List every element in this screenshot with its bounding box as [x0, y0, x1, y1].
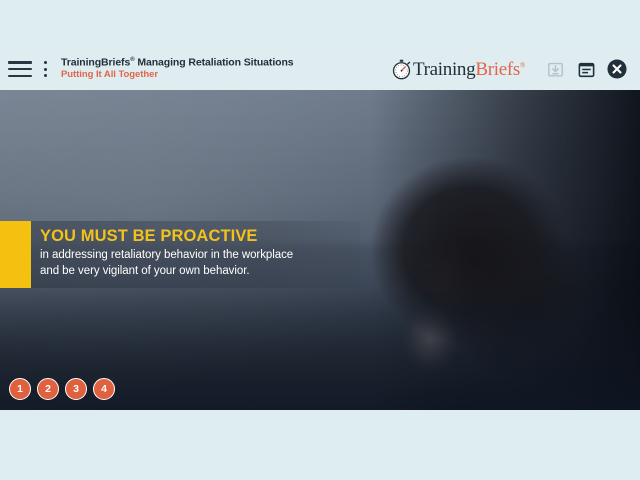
kebab-dot — [44, 74, 47, 77]
close-glyph — [606, 58, 628, 80]
slide-caption: YOU MUST BE PROACTIVE in addressing reta… — [0, 221, 360, 288]
caption-accent-bar — [0, 221, 31, 288]
caption-body: YOU MUST BE PROACTIVE in addressing reta… — [31, 221, 360, 288]
brand-wordmark: TrainingBriefs® — [413, 60, 525, 79]
caption-line-1: in addressing retaliatory behavior in th… — [40, 248, 350, 264]
slide-stage: YOU MUST BE PROACTIVE in addressing reta… — [0, 90, 640, 410]
header-titles: TrainingBriefs® Managing Retaliation Sit… — [61, 57, 294, 81]
player-header: TrainingBriefs® Managing Retaliation Sit… — [0, 48, 640, 90]
course-title-brand: TrainingBriefs — [61, 57, 130, 69]
download-glyph — [546, 60, 565, 79]
course-title-rest: Managing Retaliation Situations — [135, 57, 294, 69]
kebab-dot — [44, 68, 47, 71]
stopwatch-icon — [391, 59, 412, 80]
notes-icon[interactable] — [575, 58, 597, 80]
kebab-dot — [44, 61, 47, 64]
hamburger-line — [8, 68, 32, 71]
pager-dot-3[interactable]: 3 — [65, 378, 87, 400]
hamburger-menu-icon[interactable] — [8, 61, 32, 77]
course-title: TrainingBriefs® Managing Retaliation Sit… — [61, 57, 294, 69]
hamburger-line — [8, 75, 32, 78]
pager-dot-4[interactable]: 4 — [93, 378, 115, 400]
brand-word-briefs: Briefs — [475, 59, 520, 80]
slide-pager: 1 2 3 4 — [9, 378, 115, 400]
caption-headline: YOU MUST BE PROACTIVE — [40, 227, 350, 245]
hamburger-line — [8, 61, 32, 64]
pager-dot-1[interactable]: 1 — [9, 378, 31, 400]
notes-glyph — [577, 60, 596, 79]
pager-dot-2[interactable]: 2 — [37, 378, 59, 400]
brand-logo: TrainingBriefs® — [391, 59, 525, 80]
course-player-page: TrainingBriefs® Managing Retaliation Sit… — [0, 0, 640, 480]
close-icon[interactable] — [606, 58, 628, 80]
caption-line-2: and be very vigilant of your own behavio… — [40, 264, 350, 280]
brand-word-training: Training — [413, 59, 475, 80]
download-icon[interactable] — [544, 58, 566, 80]
more-options-icon[interactable] — [38, 61, 52, 77]
brand-registered-icon: ® — [520, 61, 525, 69]
lesson-subtitle: Putting It All Together — [61, 70, 294, 81]
